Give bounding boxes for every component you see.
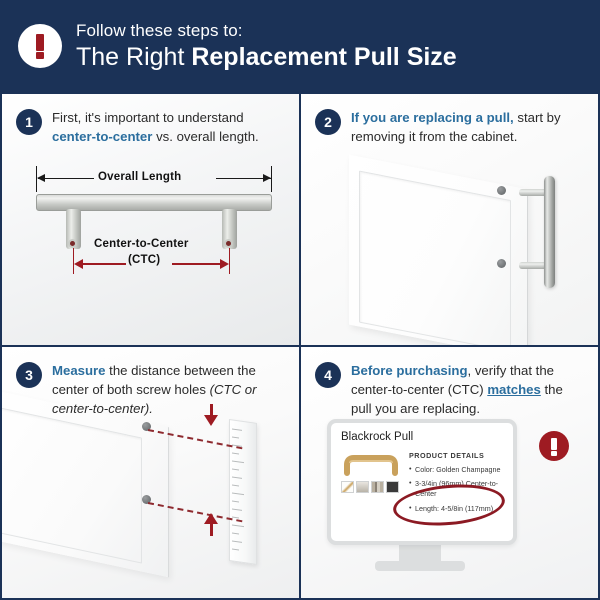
step-2-highlight: If you are replacing a pull, <box>351 110 514 125</box>
pull-post-right <box>222 209 237 249</box>
step-1-text-a: First, it's important to understand <box>52 110 244 125</box>
exclamation-glyph-small <box>551 437 557 456</box>
bar-pull-handle <box>544 176 555 288</box>
step-1-highlight: center-to-center <box>52 129 152 144</box>
header-text-block: Follow these steps to: The Right Replace… <box>76 21 457 72</box>
cabinet-door-inset <box>359 171 511 345</box>
swatch-1[interactable] <box>341 481 354 493</box>
cabinet-door-3 <box>2 391 169 578</box>
monitor-neck <box>399 545 441 561</box>
step-panel-4: 4 Before purchasing, verify that the cen… <box>301 347 598 598</box>
step-1-text-b: vs. overall length. <box>152 129 258 144</box>
step-3-head: 3 Measure the distance between the cente… <box>16 361 283 418</box>
step-number-2: 2 <box>315 109 341 135</box>
header-banner: Follow these steps to: The Right Replace… <box>0 0 600 92</box>
steps-grid: 1 First, it's important to understand ce… <box>0 92 600 600</box>
monitor-illustration: Blackrock Pull PRODUCT DETAILS Color: Go… <box>301 347 598 598</box>
ctc-arrow-left <box>74 259 83 269</box>
pull-arm-bottom <box>519 262 547 269</box>
swatch-3[interactable] <box>371 481 384 493</box>
overall-length-label: Overall Length <box>98 171 181 183</box>
product-title: Blackrock Pull <box>341 431 413 443</box>
pull-post-left <box>66 209 81 249</box>
step-2-head: 2 If you are replacing a pull, start by … <box>315 108 582 146</box>
monitor-base <box>375 561 465 571</box>
exclamation-circle-badge <box>539 431 569 461</box>
monitor-screen: Blackrock Pull PRODUCT DETAILS Color: Go… <box>327 419 517 545</box>
step-panel-2: 2 If you are replacing a pull, start by … <box>301 94 598 345</box>
pull-arm-top <box>519 189 547 196</box>
ctc-line-right <box>172 263 220 265</box>
screw-hole-bottom <box>497 259 506 268</box>
swatch-4[interactable] <box>386 481 399 493</box>
step-panel-3: 3 Measure the distance between the cente… <box>2 347 299 598</box>
overall-tick-right <box>271 166 272 192</box>
product-detail-item: Color: Golden Champagne <box>409 465 507 475</box>
infographic-root: Follow these steps to: The Right Replace… <box>0 0 600 600</box>
step-number-3: 3 <box>16 362 42 388</box>
exclamation-glyph <box>36 32 44 60</box>
screw-hole-top <box>497 186 506 195</box>
header-eyebrow: Follow these steps to: <box>76 21 457 41</box>
step-panel-1: 1 First, it's important to understand ce… <box>2 94 299 345</box>
ctc-line-left <box>82 263 126 265</box>
product-details-heading: PRODUCT DETAILS <box>409 451 507 460</box>
step-3-copy: Measure the distance between the center … <box>52 361 270 418</box>
cabinet-door <box>349 155 528 345</box>
page-title: The Right Replacement Pull Size <box>76 43 457 71</box>
step-1-copy: First, it's important to understand cent… <box>52 108 270 146</box>
swatch-2[interactable] <box>356 481 369 493</box>
overall-arrow-left <box>37 174 45 182</box>
color-swatches[interactable] <box>341 481 399 493</box>
cabinet-door-inset-3 <box>2 406 142 563</box>
ruler <box>229 419 257 565</box>
title-bold: Replacement Pull Size <box>191 43 456 71</box>
ctc-arrow-right <box>220 259 229 269</box>
arrow-stem-up <box>210 524 213 536</box>
ctc-label: Center-to-Center <box>94 238 189 250</box>
pull-dimension-diagram: Overall Length Center-to-Center (CTC) <box>24 164 286 284</box>
overall-arrow-right <box>263 174 271 182</box>
overall-line-left <box>38 178 94 179</box>
step-2-copy: If you are replacing a pull, start by re… <box>351 108 569 146</box>
exclamation-circle-icon <box>18 24 62 68</box>
ctc-stem-right <box>229 248 230 274</box>
step-number-1: 1 <box>16 109 42 135</box>
ctc-abbr-label: (CTC) <box>128 254 160 266</box>
step-1-head: 1 First, it's important to understand ce… <box>16 108 283 146</box>
step-3-highlight: Measure <box>52 363 106 378</box>
arrow-up-icon <box>204 513 218 524</box>
product-image-pull <box>343 451 399 477</box>
title-light: The Right <box>76 43 191 71</box>
